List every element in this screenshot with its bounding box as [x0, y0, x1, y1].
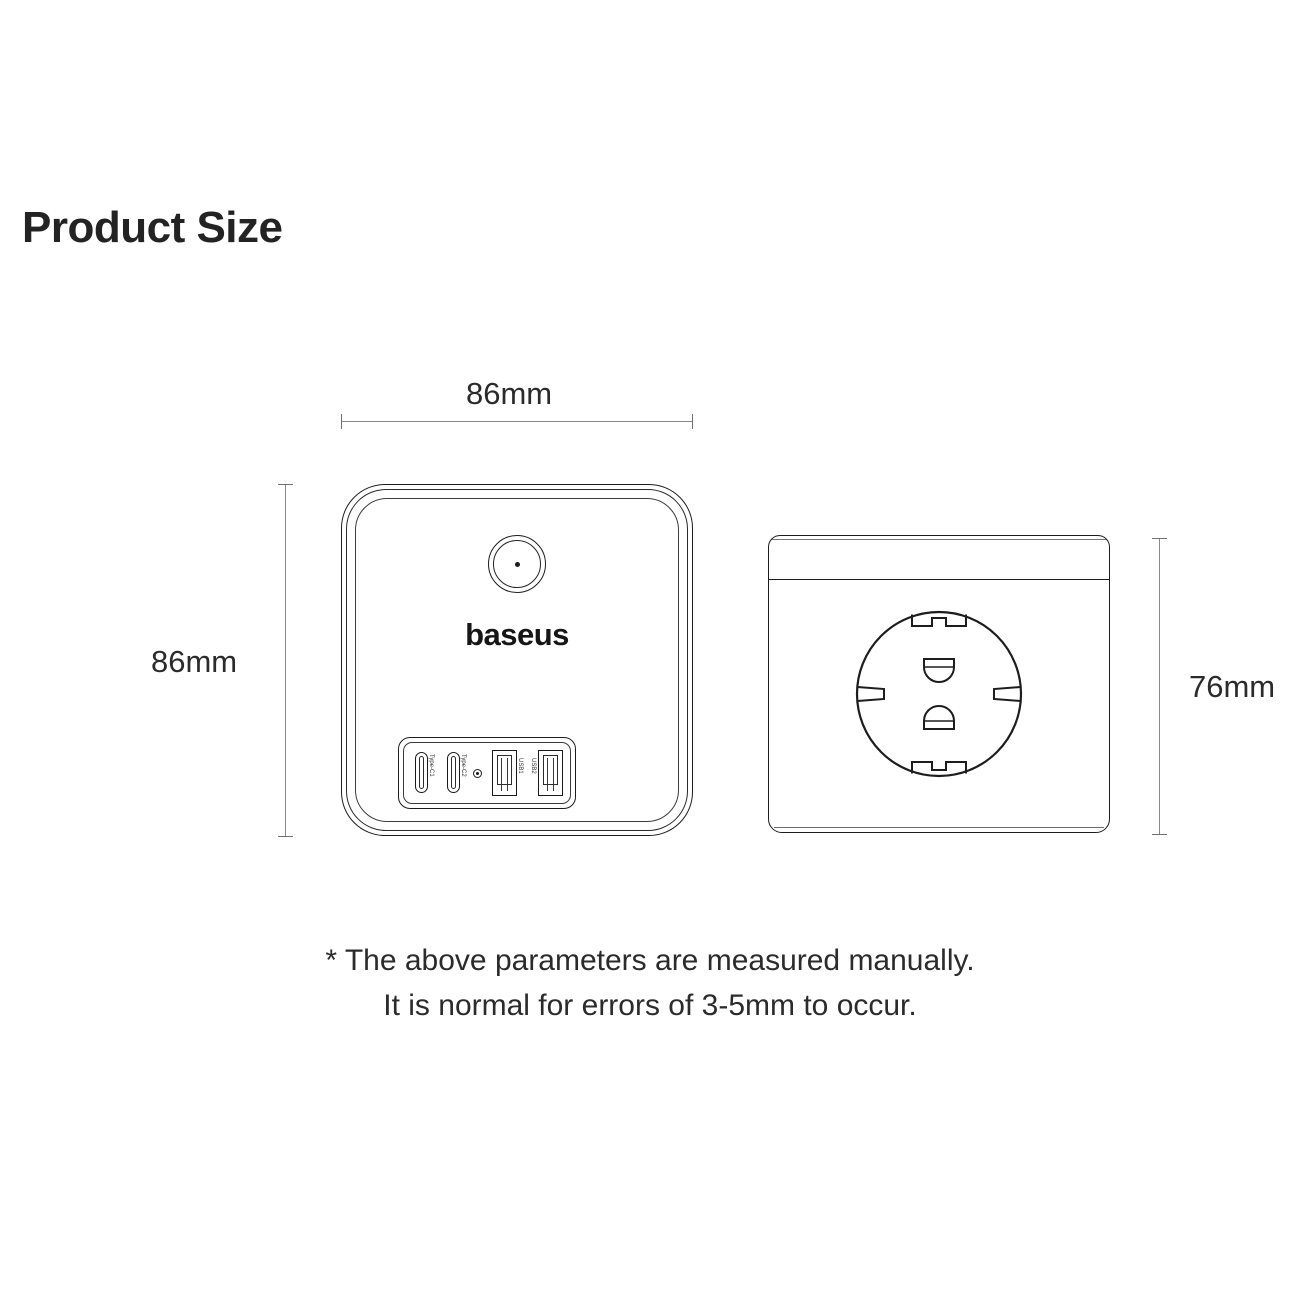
page-title: Product Size	[22, 204, 283, 252]
port-label-usb1: USB1	[517, 758, 523, 774]
socket-pin-hole-upper	[924, 659, 954, 682]
footnote-line-1: * The above parameters are measured manu…	[0, 938, 1300, 983]
port-usb-a-2	[538, 750, 563, 796]
socket-side-slot-right	[994, 687, 1021, 701]
schuko-socket-icon	[854, 609, 1024, 779]
side-shell-outline	[768, 535, 1110, 833]
dimension-line-depth	[1159, 538, 1160, 834]
dimension-label-depth: 76mm	[1189, 669, 1275, 705]
dimension-cap-height-top	[278, 484, 293, 485]
dimension-cap-height-bottom	[278, 836, 293, 837]
port-label-usb2: USB2	[530, 758, 536, 774]
socket-pin-hole-lower	[924, 706, 954, 729]
socket-side-slot-left	[858, 687, 885, 701]
product-size-page: Product Size 86mm 86mm 76mm baseus	[0, 0, 1300, 1300]
dimension-label-height: 86mm	[151, 644, 237, 680]
led-indicator-icon	[473, 769, 482, 778]
front-view-illustration: baseus Type-C1 Type-C2	[341, 484, 693, 836]
port-usb-c-2-inner	[451, 756, 456, 789]
power-button-icon	[488, 535, 546, 593]
side-top-band	[769, 536, 1109, 580]
port-usb-a-2-slot	[547, 758, 554, 791]
side-bottom-edge-line	[774, 827, 1104, 828]
dimension-line-height	[285, 484, 286, 836]
dimension-line-width	[341, 421, 693, 422]
port-panel: Type-C1 Type-C2 USB1	[398, 737, 576, 809]
port-usb-c-1-inner	[419, 756, 424, 789]
port-usb-c-1	[415, 752, 428, 793]
port-usb-a-1-slot	[501, 758, 508, 791]
port-usb-c-2	[447, 752, 460, 793]
side-view-illustration	[768, 535, 1110, 833]
footnote: * The above parameters are measured manu…	[0, 938, 1300, 1028]
side-top-edge-line	[772, 539, 1106, 540]
socket-earth-clip-bottom	[912, 762, 966, 774]
port-label-type-c2: Type-C2	[460, 754, 466, 777]
power-button-center-dot	[515, 562, 520, 567]
socket-earth-clip-top	[912, 615, 966, 627]
socket-outer-circle	[857, 612, 1021, 776]
dimension-cap-depth-top	[1152, 538, 1167, 539]
brand-logo: baseus	[465, 617, 569, 653]
port-usb-a-1	[492, 750, 517, 796]
front-face-outline: baseus Type-C1 Type-C2	[355, 498, 679, 822]
dimension-label-width: 86mm	[466, 376, 552, 412]
dimension-cap-width-right	[692, 414, 693, 429]
schuko-socket-svg	[854, 609, 1024, 779]
footnote-line-2: It is normal for errors of 3-5mm to occu…	[0, 983, 1300, 1028]
dimension-cap-depth-bottom	[1152, 834, 1167, 835]
port-label-type-c1: Type-C1	[428, 754, 434, 777]
dimension-cap-width-left	[341, 414, 342, 429]
